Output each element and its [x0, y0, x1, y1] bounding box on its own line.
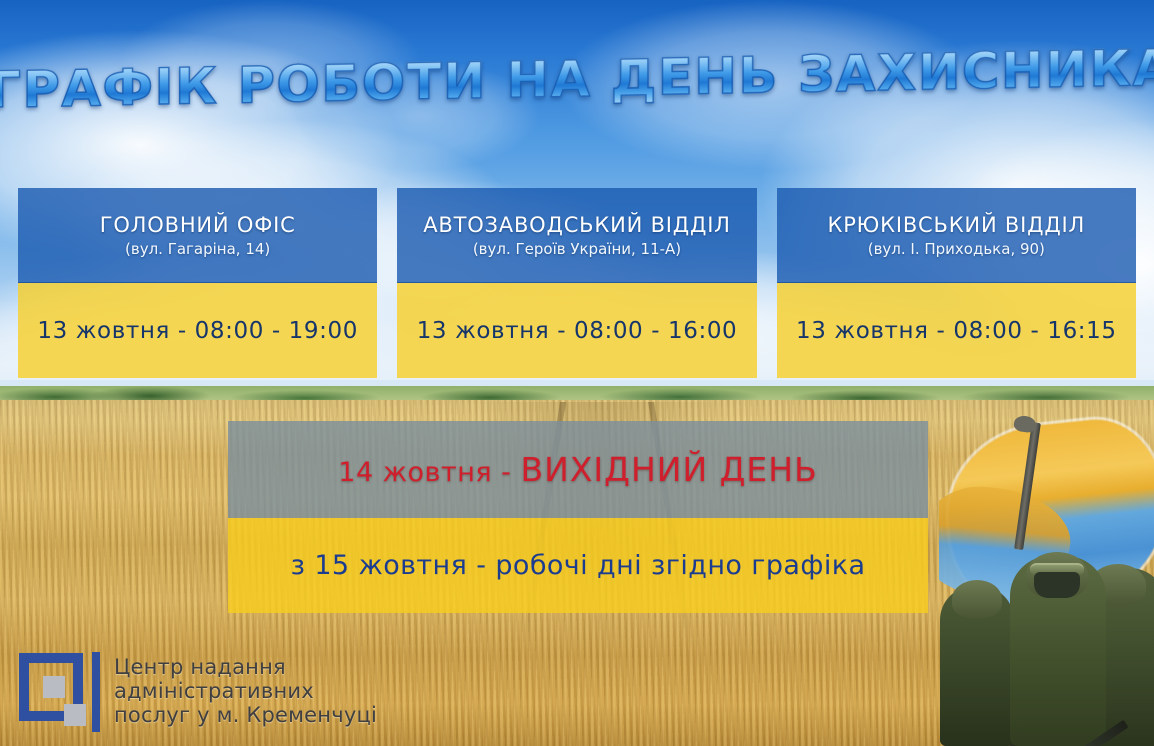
- office-card-header: АВТОЗАВОДСЬКИЙ ВІДДІЛ (вул. Героїв Украї…: [397, 188, 756, 283]
- office-name: КРЮКІВСЬКИЙ ВІДДІЛ: [828, 213, 1086, 237]
- resume-schedule-notice: з 15 жовтня - робочі дні згідно графіка: [291, 550, 866, 581]
- organisation-name-line1: Центр надання: [114, 656, 377, 680]
- office-card-main: ГОЛОВНИЙ ОФІС (вул. Гагаріна, 14) 13 жов…: [18, 188, 377, 378]
- office-cards-row: ГОЛОВНИЙ ОФІС (вул. Гагаріна, 14) 13 жов…: [18, 188, 1136, 378]
- office-card-body: 13 жовтня - 08:00 - 16:15: [777, 283, 1136, 378]
- office-card-header: ГОЛОВНИЙ ОФІС (вул. Гагаріна, 14): [18, 188, 377, 283]
- office-address: (вул. І. Приходька, 90): [868, 240, 1045, 258]
- office-card-avtozavodskyi: АВТОЗАВОДСЬКИЙ ВІДДІЛ (вул. Героїв Украї…: [397, 188, 756, 378]
- cnap-logo: [16, 646, 102, 738]
- organisation-name-line3: послуг у м. Кременчуці: [114, 704, 377, 728]
- office-hours: 13 жовтня - 08:00 - 16:00: [417, 318, 738, 344]
- office-card-body: 13 жовтня - 08:00 - 19:00: [18, 283, 377, 378]
- organisation-footer: Центр надання адміністративних послуг у …: [16, 646, 377, 738]
- office-address: (вул. Гагаріна, 14): [125, 240, 270, 258]
- poster-canvas: ГРАФІК РОБОТИ НА ДЕНЬ ЗАХИСНИКА УКРАЇНИ …: [0, 0, 1154, 746]
- office-card-kryukivskyi: КРЮКІВСЬКИЙ ВІДДІЛ (вул. І. Приходька, 9…: [777, 188, 1136, 378]
- office-card-body: 13 жовтня - 08:00 - 16:00: [397, 283, 756, 378]
- office-name: АВТОЗАВОДСЬКИЙ ВІДДІЛ: [423, 213, 731, 237]
- day-off-label: ВИХІДНИЙ ДЕНЬ: [521, 450, 818, 489]
- banner-top-band: 14 жовтня - ВИХІДНИЙ ДЕНЬ: [228, 421, 928, 518]
- office-address: (вул. Героїв України, 11-А): [473, 240, 681, 258]
- banner-bottom-band: з 15 жовтня - робочі дні згідно графіка: [228, 518, 928, 613]
- office-card-header: КРЮКІВСЬКИЙ ВІДДІЛ (вул. І. Приходька, 9…: [777, 188, 1136, 283]
- day-off-notice: 14 жовтня - ВИХІДНИЙ ДЕНЬ: [338, 450, 817, 489]
- office-hours: 13 жовтня - 08:00 - 19:00: [37, 318, 358, 344]
- cnap-logo-mark: [16, 646, 102, 738]
- holiday-notice-banner: 14 жовтня - ВИХІДНИЙ ДЕНЬ з 15 жовтня - …: [228, 421, 928, 613]
- office-name: ГОЛОВНИЙ ОФІС: [100, 213, 296, 237]
- organisation-name-line2: адміністративних: [114, 680, 377, 704]
- office-hours: 13 жовтня - 08:00 - 16:15: [796, 318, 1117, 344]
- day-off-date: 14 жовтня -: [338, 457, 520, 488]
- organisation-name: Центр надання адміністративних послуг у …: [114, 656, 377, 728]
